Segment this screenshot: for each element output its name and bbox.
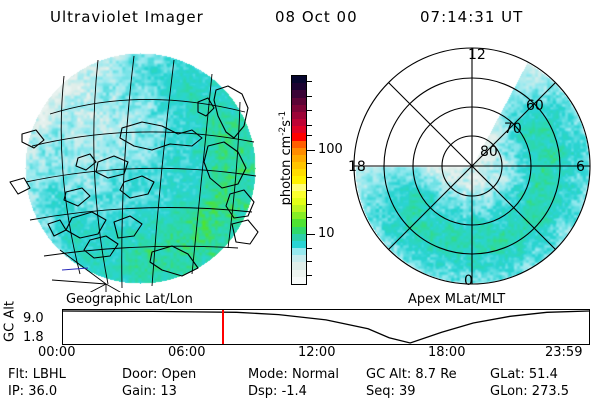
colorbar-minor-tick <box>306 135 312 136</box>
colorbar-segment <box>292 227 306 234</box>
colorbar-segment <box>292 248 306 255</box>
colorbar-segment <box>292 112 306 119</box>
colorbar-segment <box>292 126 306 133</box>
colorbar-label-exponent2: -1 <box>278 111 288 120</box>
polar-mlat-label: 70 <box>504 122 522 136</box>
status-value: 39 <box>399 385 416 398</box>
status-label: IP: <box>8 384 28 399</box>
colorbar-minor-tick <box>306 177 312 178</box>
colorbar-minor-tick <box>306 204 312 205</box>
colorbar-tick-label: 10 <box>318 227 335 240</box>
colorbar-minor-tick <box>306 110 312 111</box>
status-label: Mode: <box>248 367 292 382</box>
colorbar-gradient[interactable] <box>291 75 307 285</box>
polar-caption: Apex MLat/MLT <box>408 292 505 307</box>
header-time: 07:14:31 UT <box>420 8 523 26</box>
polar-panel[interactable]: 121860607080 <box>344 42 600 292</box>
colorbar-minor-tick <box>306 125 312 126</box>
colorbar-segment <box>292 83 306 90</box>
time-marker[interactable] <box>222 310 224 344</box>
colorbar-major-tick <box>306 234 315 235</box>
colorbar-label-exponent: -2 <box>278 127 288 136</box>
polar-mlt-label: 18 <box>348 160 366 174</box>
colorbar-segment <box>292 90 306 97</box>
status-label: Seq: <box>366 384 399 399</box>
status-value: LBHL <box>33 368 66 381</box>
colorbar-segment <box>292 219 306 226</box>
status-label: GC Alt: <box>366 367 415 382</box>
status-value: -1.4 <box>282 385 307 398</box>
status-field: GC Alt: 8.7 Re <box>366 368 457 381</box>
colorbar-segment <box>292 262 306 269</box>
colorbar-segment <box>292 105 306 112</box>
header-bar: Ultraviolet Imager 08 Oct 00 07:14:31 UT <box>0 2 600 32</box>
colorbar-segment <box>292 270 306 277</box>
status-value: 273.5 <box>532 385 569 398</box>
status-value: 36.0 <box>28 385 57 398</box>
colorbar-segment <box>292 255 306 262</box>
time-axis-label: 06:00 <box>168 346 205 359</box>
colorbar-segment <box>292 184 306 191</box>
status-field: GLon: 273.5 <box>490 385 569 398</box>
time-axis-label: 23:59 <box>545 346 582 359</box>
status-field: Seq: 39 <box>366 385 416 398</box>
colorbar-segment <box>292 212 306 219</box>
header-date: 08 Oct 00 <box>275 8 358 26</box>
status-value: 51.4 <box>529 368 558 381</box>
polar-mlt-label: 0 <box>464 274 473 288</box>
colorbar-segment <box>292 176 306 183</box>
time-axis-label: 18:00 <box>428 346 465 359</box>
polar-mlt-label: 6 <box>576 160 585 174</box>
colorbar-segment <box>292 205 306 212</box>
time-axis-label: 12:00 <box>298 346 335 359</box>
status-field: IP: 36.0 <box>8 385 57 398</box>
status-label: Door: <box>122 367 162 382</box>
altitude-trace <box>63 310 589 344</box>
colorbar-segment <box>292 148 306 155</box>
altitude-strip[interactable]: GC Alt 9.0 1.8 <box>0 306 600 346</box>
colorbar-segment <box>292 241 306 248</box>
status-field: Gain: 13 <box>122 385 177 398</box>
polar-mlt-label: 12 <box>468 48 486 62</box>
colorbar-segment <box>292 76 306 83</box>
globe-caption: Geographic Lat/Lon <box>66 292 193 307</box>
colorbar-minor-tick <box>306 96 312 97</box>
status-panel: Flt: LBHLDoor: OpenMode: NormalGC Alt: 8… <box>0 366 600 400</box>
status-label: Dsp: <box>248 384 282 399</box>
colorbar-segment <box>292 141 306 148</box>
altitude-axis-title: GC Alt <box>3 297 18 347</box>
status-field: GLat: 51.4 <box>490 368 558 381</box>
status-value: 8.7 Re <box>415 368 456 381</box>
colorbar-minor-tick <box>306 217 312 218</box>
polar-grid-overlay <box>344 42 600 292</box>
status-value: Normal <box>292 368 339 381</box>
status-value: Open <box>162 368 197 381</box>
altitude-min-label: 1.8 <box>23 331 44 344</box>
colorbar-segment <box>292 198 306 205</box>
colorbar-major-tick <box>306 150 315 151</box>
globe-map-overlay <box>2 42 264 292</box>
colorbar-segment <box>292 98 306 105</box>
altitude-max-label: 9.0 <box>23 312 44 325</box>
colorbar-segment <box>292 162 306 169</box>
status-label: Gain: <box>122 384 160 399</box>
app-window: Ultraviolet Imager 08 Oct 00 07:14:31 UT <box>0 0 600 400</box>
status-label: Flt: <box>8 367 33 382</box>
page-title: Ultraviolet Imager <box>50 8 204 26</box>
status-field: Mode: Normal <box>248 368 339 381</box>
polar-mlat-label: 80 <box>480 145 498 159</box>
colorbar-segment <box>292 277 306 284</box>
colorbar-segment <box>292 234 306 241</box>
status-value: 13 <box>160 385 177 398</box>
colorbar-ticks: 10010 <box>306 75 340 283</box>
colorbar-segment <box>292 191 306 198</box>
colorbar-panel: photon cm-2s-1 10010 <box>262 60 342 300</box>
time-axis: 00:0006:0012:0018:0023:59 <box>0 346 600 364</box>
status-field: Door: Open <box>122 368 196 381</box>
time-axis-label: 00:00 <box>38 346 75 359</box>
colorbar-minor-tick <box>306 163 312 164</box>
colorbar-minor-tick <box>306 190 312 191</box>
colorbar-segment <box>292 119 306 126</box>
colorbar-minor-tick <box>306 248 312 249</box>
status-field: Flt: LBHL <box>8 368 66 381</box>
globe-panel[interactable] <box>2 42 264 292</box>
colorbar-minor-tick <box>306 275 312 276</box>
colorbar-segment <box>292 155 306 162</box>
status-field: Dsp: -1.4 <box>248 385 307 398</box>
colorbar-minor-tick <box>306 261 312 262</box>
colorbar-tick-label: 100 <box>318 143 343 156</box>
colorbar-minor-tick <box>306 81 312 82</box>
status-label: GLat: <box>490 367 529 382</box>
colorbar-segment <box>292 169 306 176</box>
polar-mlat-label: 60 <box>526 99 544 113</box>
status-label: GLon: <box>490 384 532 399</box>
colorbar-segment <box>292 133 306 140</box>
altitude-plot-box[interactable] <box>62 309 590 345</box>
